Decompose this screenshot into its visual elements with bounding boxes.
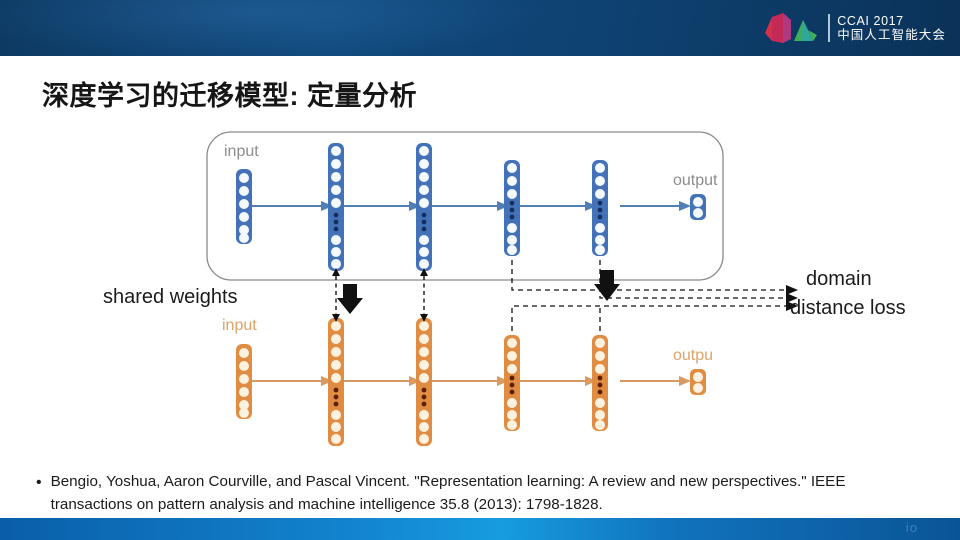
source-hidden-layer-4 [592,160,608,256]
source-hidden-layer-2 [416,143,432,271]
source-input-label: input [224,143,259,160]
domain-loss-label-line2: distance loss [790,297,906,319]
domain-loss-bold-arrow-icon [594,270,620,301]
target-network: input [222,317,713,446]
source-network: input [224,143,718,271]
slide-header: CCAI 2017 中国人工智能大会 [0,0,960,56]
shared-weights-label: shared weights [103,286,238,308]
target-hidden-layer-3 [504,335,520,431]
target-flow-arrows [252,376,691,386]
target-hidden-layer-1 [328,318,344,446]
source-output-label: output [673,172,718,189]
citation-bullet-icon: • [36,470,42,494]
footer-watermark: io [906,520,918,535]
logo-text-en: CCAI 2017 [837,14,946,28]
domain-loss-label-line1: domain [806,268,872,290]
source-hidden-layer-1 [328,143,344,271]
logo-divider [828,14,830,42]
citation: • Bengio, Yoshua, Aaron Courville, and P… [36,470,916,516]
slide: CCAI 2017 中国人工智能大会 深度学习的迁移模型: 定量分析 [0,0,960,540]
transfer-network-diagram: input [0,118,960,458]
shared-weights-bold-arrow-icon [337,284,363,314]
domain-loss-routing [512,260,786,331]
diagram-canvas: input [0,118,960,458]
citation-text: Bengio, Yoshua, Aaron Courville, and Pas… [51,470,916,516]
target-output-label: outpu [673,347,713,364]
target-input-layer [236,344,252,419]
target-hidden-layer-2 [416,318,432,446]
slide-footer: io [0,518,960,540]
target-output-layer [690,369,706,395]
target-input-label: input [222,317,257,334]
ccai-logo: CCAI 2017 中国人工智能大会 [763,9,946,47]
source-input-layer [236,169,252,244]
source-hidden-layer-3 [504,160,520,256]
ccai-logo-mark-icon [763,11,821,45]
page-title: 深度学习的迁移模型: 定量分析 [42,74,417,113]
source-output-layer [690,194,706,220]
target-hidden-layer-4 [592,335,608,431]
logo-text: CCAI 2017 中国人工智能大会 [837,14,946,42]
source-flow-arrows [252,201,691,211]
logo-text-cn: 中国人工智能大会 [837,28,946,42]
